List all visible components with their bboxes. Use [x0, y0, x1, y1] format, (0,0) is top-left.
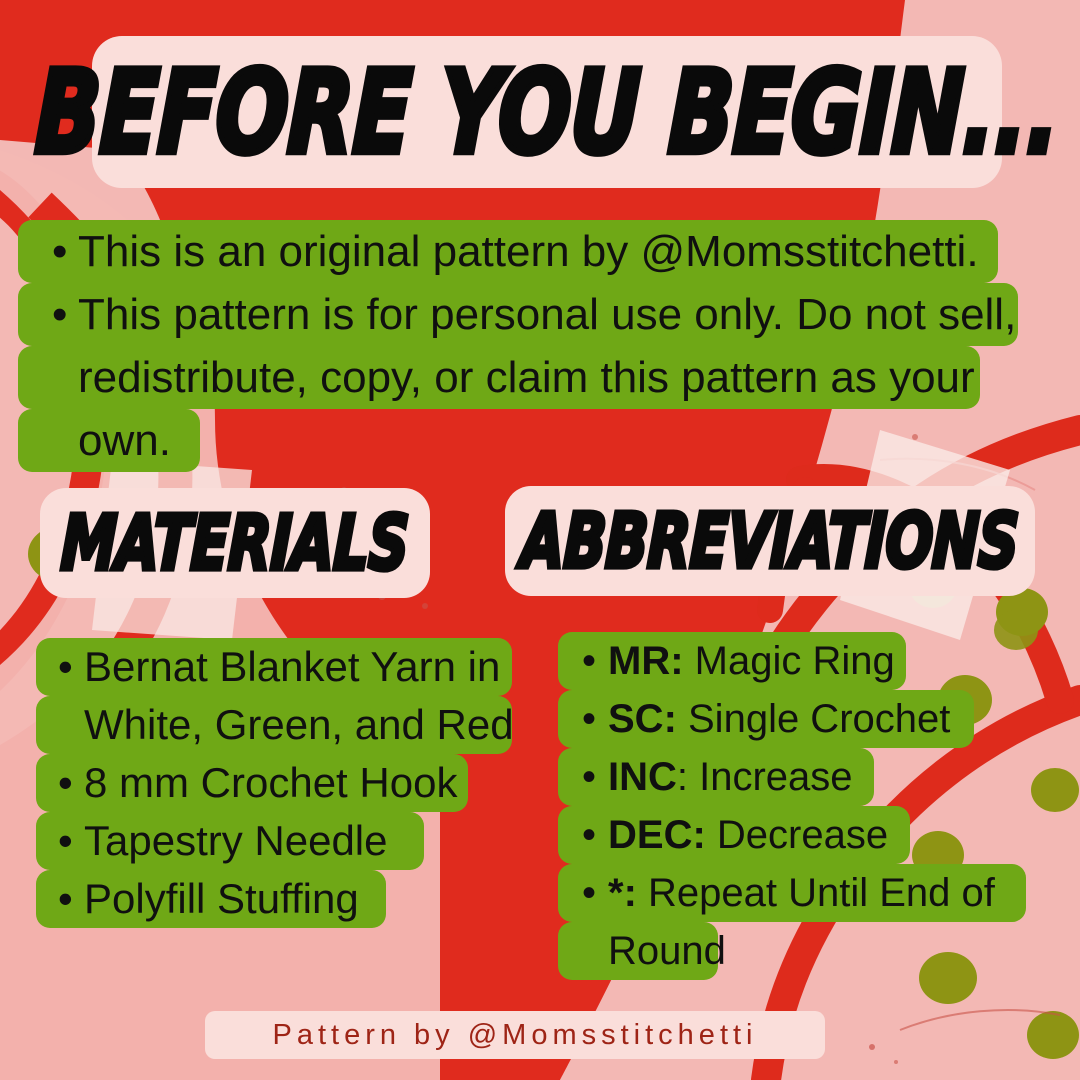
page-title: BEFORE YOU BEGIN...	[33, 56, 1061, 170]
olive-dot-6	[1027, 1011, 1079, 1059]
line-text: •Polyfill Stuffing	[36, 870, 359, 928]
line-label: Bernat Blanket Yarn in	[84, 643, 500, 690]
line-label: This pattern is for personal use only. D…	[78, 290, 1016, 339]
bullet-icon: •	[582, 632, 608, 690]
list-line: redistribute, copy, or claim this patter…	[18, 346, 1018, 409]
abbreviation-definition: Single Crochet	[677, 697, 950, 741]
line-text: •INC: Increase	[558, 748, 853, 806]
materials-heading: MATERIALS	[60, 505, 410, 580]
line-text: •This pattern is for personal use only. …	[18, 283, 1016, 346]
list-line: •8 mm Crochet Hook	[36, 754, 516, 812]
line-label: 8 mm Crochet Hook	[84, 759, 457, 806]
line-text: •SC: Single Crochet	[558, 690, 950, 748]
footer-credit-pill: Pattern by @Momsstitchetti	[205, 1011, 825, 1059]
bullet-icon: •	[582, 806, 608, 864]
list-line: •Tapestry Needle	[36, 812, 516, 870]
olive-dot-3	[1031, 768, 1079, 812]
poster-canvas: BEFORE YOU BEGIN... •This is an original…	[0, 0, 1080, 1080]
abbreviation-term: DEC:	[608, 813, 706, 857]
abbreviations-header-card: ABBREVIATIONS	[505, 486, 1035, 596]
line-text: •This is an original pattern by @Momssti…	[18, 220, 979, 283]
bullet-icon: •	[58, 638, 84, 696]
abbreviation-term: *:	[608, 871, 637, 915]
line-label: Tapestry Needle	[84, 817, 388, 864]
abbreviations-heading: ABBREVIATIONS	[520, 503, 1020, 578]
abbreviation-term: MR:	[608, 639, 684, 683]
bullet-icon: •	[58, 812, 84, 870]
bullet-icon: •	[582, 690, 608, 748]
list-line: •MR: Magic Ring	[558, 632, 1038, 690]
bullet-icon: •	[52, 283, 78, 346]
line-text: •DEC: Decrease	[558, 806, 888, 864]
speck-1	[869, 1044, 875, 1050]
line-text: •*: Repeat Until End of	[558, 864, 995, 922]
list-line: •INC: Increase	[558, 748, 1038, 806]
footer-credit-text: Pattern by @Momsstitchetti	[273, 1019, 758, 1052]
line-label: Polyfill Stuffing	[84, 875, 359, 922]
materials-header-card: MATERIALS	[40, 488, 430, 598]
list-line: •This is an original pattern by @Momssti…	[18, 220, 1018, 283]
speck-9	[422, 603, 428, 609]
abbreviation-definition: Decrease	[706, 813, 888, 857]
list-line: •*: Repeat Until End of	[558, 864, 1038, 922]
line-text: •MR: Magic Ring	[558, 632, 895, 690]
intro-text-block: •This is an original pattern by @Momssti…	[18, 220, 1018, 472]
abbreviations-list: •MR: Magic Ring•SC: Single Crochet•INC: …	[558, 632, 1038, 980]
line-text: •Tapestry Needle	[36, 812, 388, 870]
line-text: White, Green, and Red	[36, 696, 514, 754]
line-text: redistribute, copy, or claim this patter…	[18, 346, 975, 409]
bullet-icon: •	[58, 754, 84, 812]
bullet-icon: •	[52, 220, 78, 283]
abbreviation-definition: : Increase	[677, 755, 853, 799]
abbreviation-term: INC	[608, 755, 677, 799]
line-label: This is an original pattern by @Momsstit…	[78, 227, 979, 276]
list-line: own.	[18, 409, 1018, 472]
line-text: own.	[18, 409, 171, 472]
line-text: •Bernat Blanket Yarn in	[36, 638, 500, 696]
abbreviation-term: SC:	[608, 697, 677, 741]
materials-list: •Bernat Blanket Yarn inWhite, Green, and…	[36, 638, 516, 928]
speck-2	[894, 1060, 898, 1064]
abbreviation-definition: Repeat Until End of	[637, 871, 995, 915]
list-line: White, Green, and Red	[36, 696, 516, 754]
list-line: •Polyfill Stuffing	[36, 870, 516, 928]
bullet-icon: •	[582, 864, 608, 922]
list-line: •DEC: Decrease	[558, 806, 1038, 864]
list-line: •Bernat Blanket Yarn in	[36, 638, 516, 696]
list-line: •SC: Single Crochet	[558, 690, 1038, 748]
line-label: own.	[78, 416, 171, 465]
bullet-icon: •	[582, 748, 608, 806]
line-label: White, Green, and Red	[84, 701, 514, 748]
abbreviation-definition: Magic Ring	[684, 639, 895, 683]
line-label: redistribute, copy, or claim this patter…	[78, 353, 975, 402]
title-card: BEFORE YOU BEGIN...	[92, 36, 1002, 188]
bullet-icon: •	[58, 870, 84, 928]
line-text: •8 mm Crochet Hook	[36, 754, 457, 812]
list-line: Round	[558, 922, 1038, 980]
line-text: Round	[558, 922, 726, 980]
list-line: •This pattern is for personal use only. …	[18, 283, 1018, 346]
abbreviation-definition: Round	[608, 929, 726, 973]
